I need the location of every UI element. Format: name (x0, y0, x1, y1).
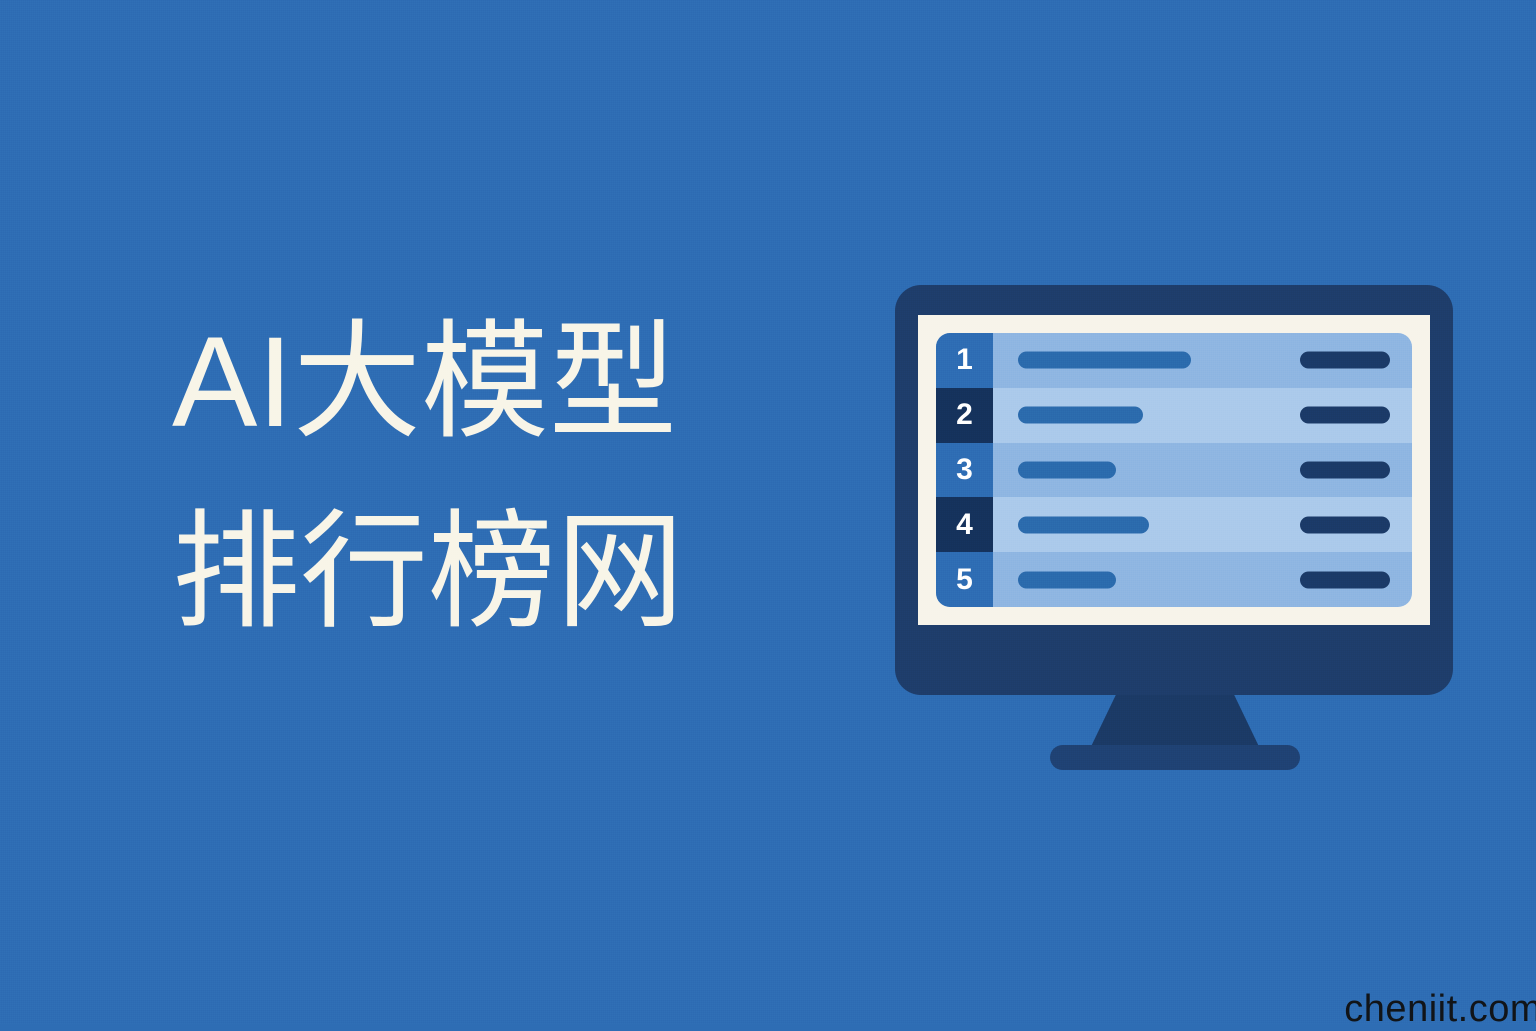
model-name-bar (1018, 352, 1191, 369)
leaderboard-row: 3 (936, 443, 1412, 498)
leaderboard-row: 5 (936, 552, 1412, 607)
model-score-bar (1300, 352, 1390, 369)
page-title: AI大模型 排行榜网 (172, 288, 772, 668)
monitor-screen-frame: 1 2 3 4 (918, 315, 1430, 625)
page-title-line-1: AI大模型 (172, 288, 772, 478)
model-name-bar (1018, 571, 1116, 588)
leaderboard-row: 2 (936, 388, 1412, 443)
watermark-text: cheniit.com (1344, 988, 1536, 1031)
model-name-bar (1018, 407, 1143, 424)
row-content (993, 443, 1412, 498)
rank-badge: 2 (936, 388, 993, 443)
page-title-line-2: 排行榜网 (172, 478, 772, 668)
row-content (993, 497, 1412, 552)
leaderboard-row: 1 (936, 333, 1412, 388)
monitor-illustration: 1 2 3 4 (895, 285, 1453, 695)
rank-badge: 3 (936, 443, 993, 498)
model-name-bar (1018, 516, 1149, 533)
leaderboard-row: 4 (936, 497, 1412, 552)
row-content (993, 552, 1412, 607)
model-name-bar (1018, 461, 1116, 478)
model-score-bar (1300, 461, 1390, 478)
row-content (993, 388, 1412, 443)
model-score-bar (1300, 571, 1390, 588)
rank-badge: 5 (936, 552, 993, 607)
leaderboard-panel: 1 2 3 4 (936, 333, 1412, 607)
rank-badge: 1 (936, 333, 993, 388)
model-score-bar (1300, 407, 1390, 424)
rank-badge: 4 (936, 497, 993, 552)
model-score-bar (1300, 516, 1390, 533)
row-content (993, 333, 1412, 388)
monitor-stand-base (1050, 745, 1300, 770)
